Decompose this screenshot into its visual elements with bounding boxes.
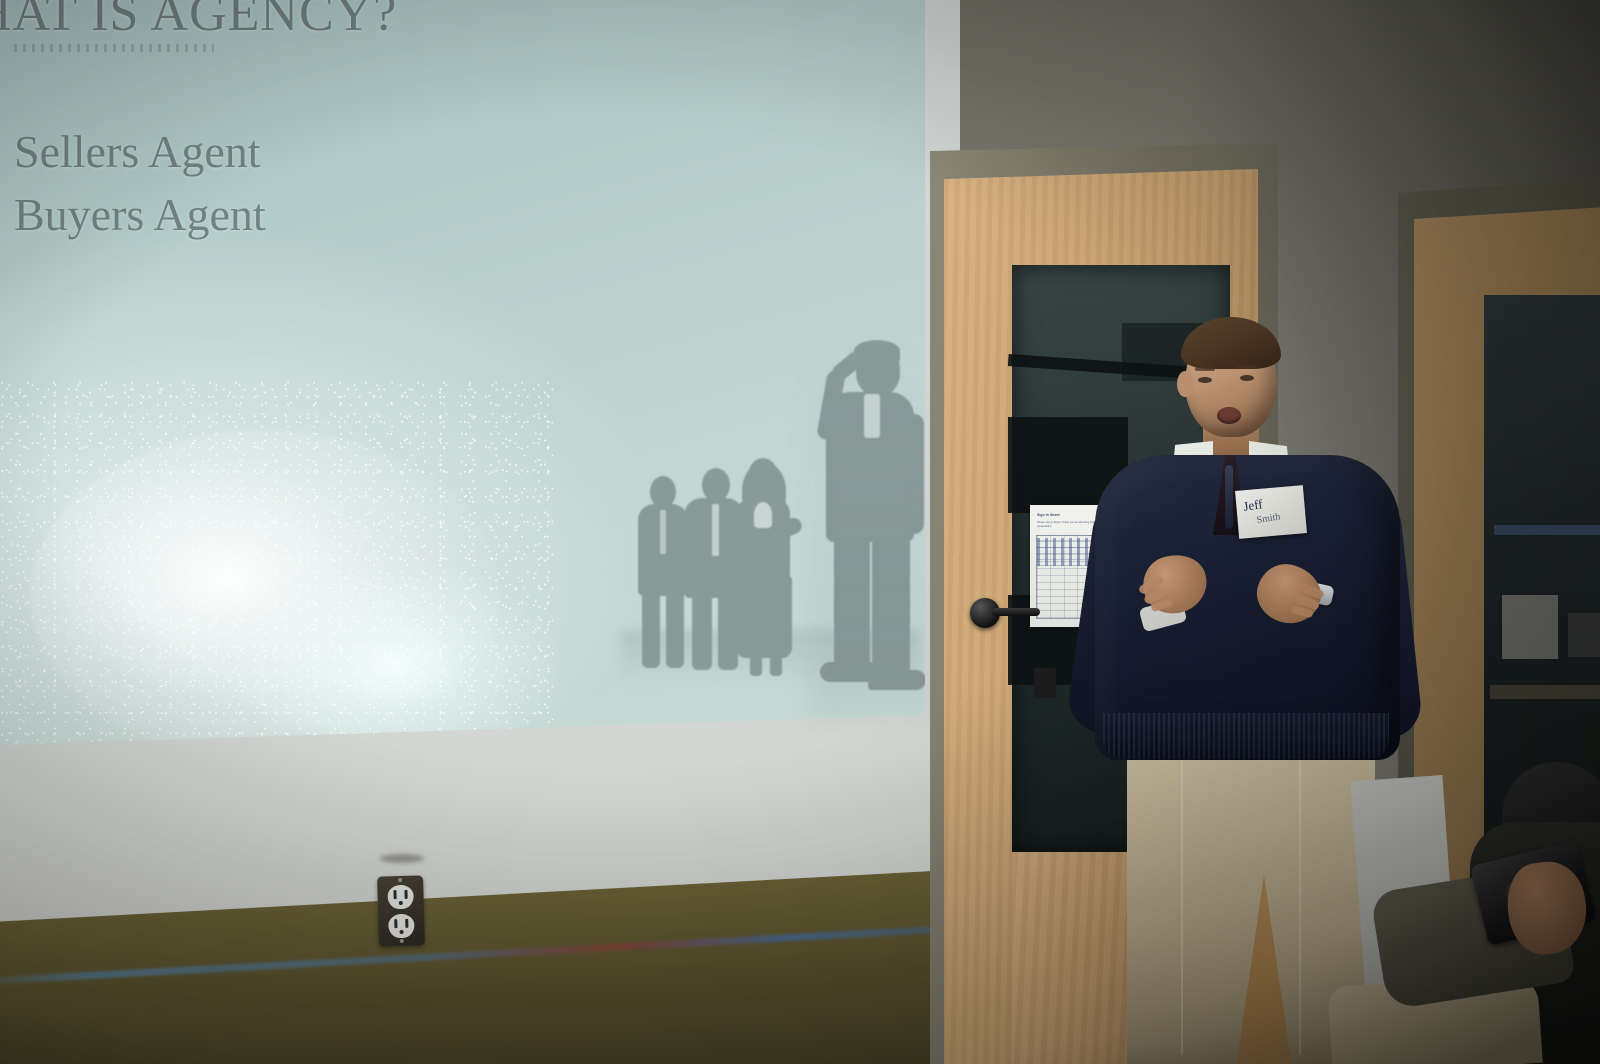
interior-outlet: [1034, 668, 1056, 698]
presenter-eye-right: [1240, 375, 1254, 381]
presenter-eye-left: [1198, 377, 1212, 383]
slide-title-rule: [14, 44, 214, 52]
outlet-screw-top: [398, 878, 402, 882]
presenter-mouth: [1217, 407, 1241, 424]
outlet-receptacle-top: [387, 885, 414, 910]
door-handle-lever: [992, 608, 1040, 616]
presenter-eyebrow-right: [1237, 365, 1257, 369]
presenter-eyebrow-left: [1195, 367, 1215, 371]
name-tag-first-name: Jeff: [1242, 496, 1263, 515]
name-tag-last-name: Smith: [1256, 511, 1281, 526]
outlet-receptacle-bottom: [388, 914, 415, 939]
presenter-sweater-hem: [1103, 713, 1389, 759]
outlet-screw-bottom: [400, 939, 404, 943]
wall-scuff: [380, 854, 424, 863]
slide-bullet-sellers-agent: Sellers Agent: [14, 125, 261, 178]
presenter-name-tag: Jeff Smith: [1235, 485, 1307, 539]
silhouette-figure-1: [636, 476, 690, 666]
wall-outlet: [377, 875, 425, 946]
door-handle[interactable]: [948, 598, 1018, 628]
projected-slide: HAT IS AGENCY? Sellers Agent Buyers Agen…: [0, 0, 925, 745]
slide-bullet-buyers-agent: Buyers Agent: [14, 188, 266, 241]
slide-silhouette-artwork: [600, 330, 925, 720]
presenter-ear: [1177, 371, 1193, 397]
presenter-hair: [1181, 317, 1281, 369]
silhouette-figure-3-woman: [728, 458, 804, 674]
slide-title: HAT IS AGENCY?: [0, 0, 397, 43]
presenter-zipper: [1225, 465, 1233, 529]
audience-member: [1330, 770, 1600, 1064]
sheet-title: Sign In Sheet: [1037, 513, 1060, 517]
photo-scene: HAT IS AGENCY? Sellers Agent Buyers Agen…: [0, 0, 1600, 1064]
silhouette-figure-4-man-on-phone: [808, 344, 925, 692]
